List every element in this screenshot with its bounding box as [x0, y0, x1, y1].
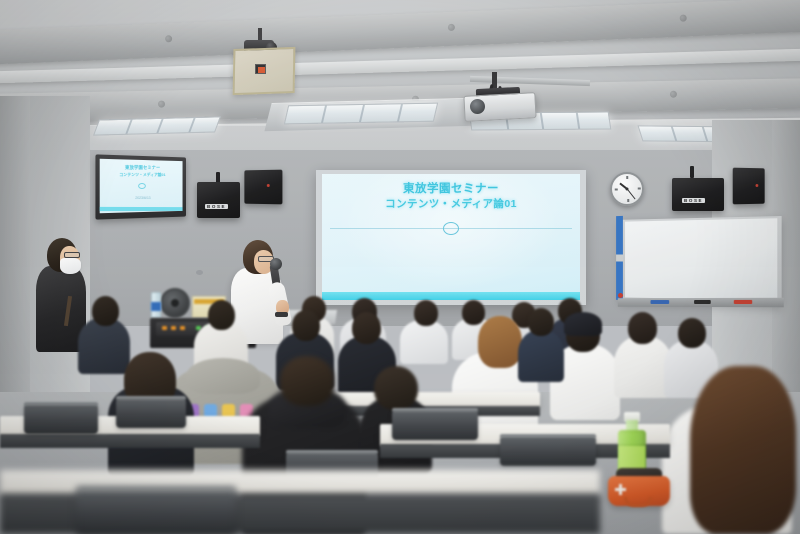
- speaker-bracket-right: [690, 166, 694, 178]
- audience-head: [92, 296, 119, 326]
- wall-speaker-left-b: [244, 170, 282, 205]
- audience-torso: [78, 318, 130, 374]
- fan-hub: [171, 299, 179, 307]
- chair-back[interactable]: [392, 410, 478, 440]
- audience-head: [208, 300, 235, 330]
- slide-title: 東放学園セミナー: [322, 180, 580, 196]
- audience-head: [462, 300, 485, 325]
- cap-icon: [564, 312, 602, 336]
- wall-speaker-left-a: BOSE: [197, 182, 240, 218]
- microphone-icon: [270, 258, 282, 270]
- wall-clock: [610, 172, 644, 206]
- wall-monitor-subtitle: コンテンツ・メディア論01: [100, 172, 183, 178]
- wall-speaker-right-a: BOSE: [672, 178, 724, 211]
- chair-back[interactable]: [24, 404, 98, 434]
- chair-top-rail: [286, 450, 378, 454]
- marker-red[interactable]: [734, 300, 752, 304]
- wall-monitor-circle-motif: [138, 183, 146, 189]
- wall-monitor-title: 東放学園セミナー: [100, 165, 183, 171]
- ceiling-panel-marker: [255, 64, 266, 74]
- audience-head: [352, 312, 381, 344]
- chair-back[interactable]: [116, 398, 186, 428]
- whiteboard[interactable]: [625, 218, 777, 300]
- audience-torso: [518, 330, 564, 382]
- cross-icon: [615, 484, 626, 495]
- ceiling-light-1: [93, 116, 221, 135]
- chair-top-rail: [76, 486, 236, 492]
- marker-blue[interactable]: [650, 300, 669, 304]
- left-wall-column: [0, 96, 30, 396]
- wall-monitor-date: 2023/6/13: [100, 196, 183, 200]
- sanitizer-label: [151, 302, 161, 311]
- slide-subtitle: コンテンツ・メディア論01: [322, 196, 580, 211]
- wall-monitor-accent-band: [100, 207, 183, 211]
- audience-head: [678, 318, 706, 348]
- audience-head: [374, 366, 418, 410]
- chair-back[interactable]: [500, 436, 596, 466]
- audience-head: [628, 312, 657, 344]
- whiteboard-magnet[interactable]: [618, 293, 623, 298]
- audience-head: [478, 316, 522, 368]
- chair-top-rail: [392, 408, 478, 412]
- desk-row-2-left-apron: [0, 434, 260, 448]
- whiteboard-marker-tray: [618, 298, 784, 307]
- chair-back-foreground[interactable]: [76, 490, 236, 534]
- audience-head: [292, 310, 320, 341]
- chair-top-rail: [500, 434, 596, 438]
- marker-black[interactable]: [694, 300, 711, 304]
- audience-torso: [400, 320, 448, 364]
- wristwatch-icon: [275, 312, 288, 317]
- ceiling-light-2: [284, 103, 438, 125]
- foreground-hair: [690, 366, 796, 534]
- hoodie-hood: [186, 358, 260, 394]
- slide-circle-motif: [443, 222, 459, 235]
- wall-speaker-right-b: [733, 168, 765, 205]
- face-mask-icon: [60, 258, 81, 274]
- audience-head: [528, 308, 554, 336]
- audience-head: [280, 356, 334, 406]
- lecture-hall-photo: 東放学園セミナー コンテンツ・メディア論01 東放学園セミナー コンテンツ・メデ…: [0, 0, 800, 534]
- chair-top-rail: [24, 402, 98, 406]
- whiteboard-side-strip: [616, 216, 623, 300]
- audience-head: [414, 300, 438, 326]
- chair-top-rail: [116, 396, 186, 400]
